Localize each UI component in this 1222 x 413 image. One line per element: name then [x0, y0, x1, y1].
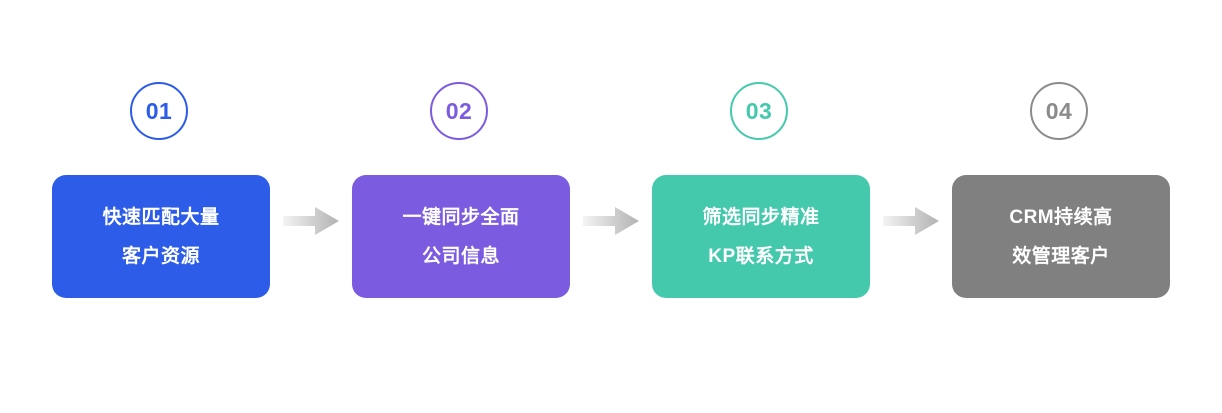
step-4-number: 04 [1046, 100, 1073, 123]
step-4-number-badge: 04 [1030, 82, 1088, 140]
step-1-number-badge: 01 [130, 82, 188, 140]
process-step-4[interactable]: 04 CRM持续高 效管理客户 [952, 82, 1170, 298]
process-step-3[interactable]: 03 筛选同步精准 KP联系方式 [652, 82, 870, 298]
step-2-number: 02 [446, 100, 473, 123]
connector-2 [583, 82, 639, 298]
step-2-badge-row: 02 [352, 82, 570, 175]
step-1-number: 01 [146, 100, 173, 123]
connector-3 [883, 82, 939, 298]
step-3-badge-row: 03 [652, 82, 870, 175]
step-2-card-line-2: 公司信息 [422, 247, 500, 266]
step-3-card[interactable]: 筛选同步精准 KP联系方式 [652, 175, 870, 298]
step-4-card-line-1: CRM持续高 [1009, 208, 1112, 227]
connector-1 [283, 82, 339, 298]
flow-container: 01 快速匹配大量 客户资源 [52, 82, 1170, 298]
step-2-card[interactable]: 一键同步全面 公司信息 [352, 175, 570, 298]
step-3-card-line-2: KP联系方式 [708, 247, 813, 266]
step-1-badge-row: 01 [52, 82, 270, 175]
arrow-right-icon [883, 207, 939, 235]
step-1-card-line-1: 快速匹配大量 [102, 208, 219, 227]
process-step-2[interactable]: 02 一键同步全面 公司信息 [352, 82, 570, 298]
step-4-card-line-2: 效管理客户 [1012, 247, 1110, 266]
step-4-card[interactable]: CRM持续高 效管理客户 [952, 175, 1170, 298]
arrow-right-icon [583, 207, 639, 235]
step-3-number: 03 [746, 100, 773, 123]
step-1-card[interactable]: 快速匹配大量 客户资源 [52, 175, 270, 298]
arrow-right-icon [283, 207, 339, 235]
step-4-badge-row: 04 [952, 82, 1170, 175]
step-2-card-line-1: 一键同步全面 [402, 208, 519, 227]
step-3-number-badge: 03 [730, 82, 788, 140]
step-2-number-badge: 02 [430, 82, 488, 140]
process-step-1[interactable]: 01 快速匹配大量 客户资源 [52, 82, 270, 298]
step-3-card-line-1: 筛选同步精准 [702, 208, 819, 227]
process-flow-diagram: 01 快速匹配大量 客户资源 [0, 0, 1222, 413]
step-1-card-line-2: 客户资源 [122, 247, 200, 266]
